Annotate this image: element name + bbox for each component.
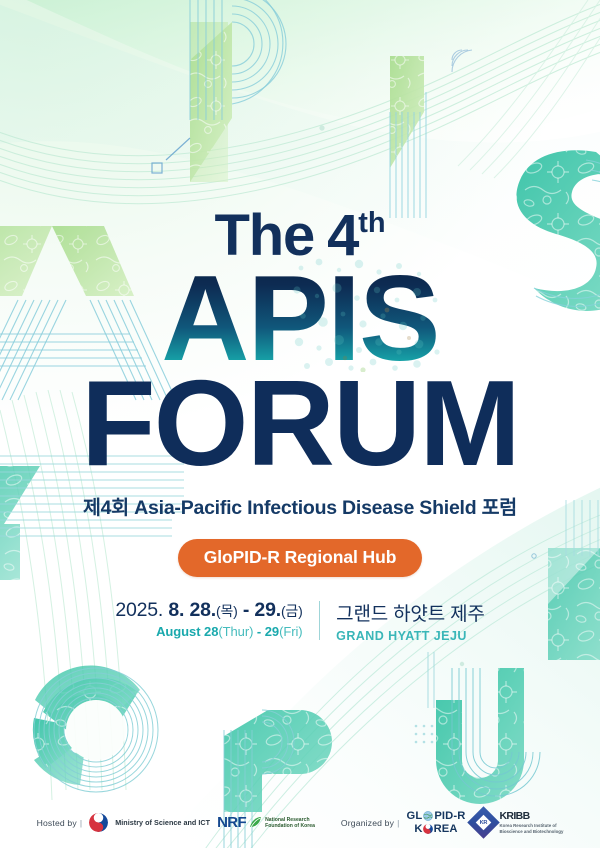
event-date-column: 2025. 8. 28.(목) - 29.(금) August 28(Thur)… bbox=[115, 599, 302, 643]
event-venue-column: 그랜드 하얏트 제주 GRAND HYATT JEJU bbox=[336, 599, 485, 643]
date-weekday-end: (금) bbox=[281, 603, 303, 619]
label-bar: | bbox=[80, 818, 82, 828]
glopid-row-top: GL PID-R bbox=[407, 811, 466, 822]
acronym-wrap: APIS bbox=[161, 265, 438, 374]
nrf-line1: National Research bbox=[265, 817, 315, 823]
date-weekday-start: (목) bbox=[216, 603, 238, 619]
nrf-subtitle: National Research Foundation of Korea bbox=[265, 817, 315, 829]
date-en-dash: - bbox=[253, 624, 264, 639]
date-en-thur: (Thur) bbox=[218, 624, 253, 639]
hosted-by-label: Hosted by| bbox=[37, 818, 83, 828]
diamond-mark: KR bbox=[480, 820, 488, 826]
organized-by-label: Organized by| bbox=[341, 818, 400, 828]
nrf-logo: NRF National Research Foundation of Kore… bbox=[217, 815, 315, 830]
date-month: 8. bbox=[168, 599, 184, 621]
date-en-day2: 29 bbox=[265, 624, 279, 639]
korea-k: K bbox=[414, 824, 422, 835]
glopid-gl: GL bbox=[407, 811, 423, 822]
kribb-line1: Korea Research Institute of bbox=[499, 823, 563, 829]
taegeuk-icon bbox=[89, 813, 108, 832]
diamond-inner: KR bbox=[476, 815, 492, 831]
organized-by-group: Organized by| GL PID-R bbox=[341, 811, 563, 835]
event-info-block: 2025. 8. 28.(목) - 29.(금) August 28(Thur)… bbox=[115, 599, 484, 643]
poster-canvas: The 4 th APIS bbox=[0, 0, 600, 848]
footer-logos: Hosted by| Ministry of Science and ICT N… bbox=[0, 811, 600, 835]
kribb-text: KRIBB Korea Research Institute of Biosci… bbox=[499, 811, 563, 835]
taegeuk-icon-small bbox=[423, 824, 433, 834]
korea-rea: REA bbox=[434, 824, 458, 835]
date-year: 2025. bbox=[115, 599, 163, 621]
kribb-logo: KR KRIBB Korea Research Institute of Bio… bbox=[472, 811, 563, 835]
nrf-leaf-icon bbox=[249, 816, 262, 829]
date-en-main: August 28 bbox=[156, 624, 218, 639]
nrf-line2: Foundation of Korea bbox=[265, 823, 315, 829]
poster-subtitle: 제4회 Asia-Pacific Infectious Disease Shie… bbox=[83, 491, 517, 520]
glopid-pid-r: PID-R bbox=[434, 811, 465, 822]
glopid-row-bottom: K REA bbox=[414, 824, 457, 835]
glopid-r-korea-logo: GL PID-R K bbox=[407, 811, 466, 835]
venue-english: GRAND HYATT JEJU bbox=[336, 629, 467, 643]
date-en-fri: (Fri) bbox=[279, 624, 303, 639]
poster-content: The 4 th APIS bbox=[0, 0, 600, 848]
globe-icon bbox=[423, 811, 433, 821]
kribb-line2: Bioscience and Biotechnology bbox=[499, 829, 563, 835]
regional-hub-badge: GloPID-R Regional Hub bbox=[178, 539, 423, 577]
venue-korean: 그랜드 하얏트 제주 bbox=[336, 599, 485, 626]
date-dash: - bbox=[243, 599, 249, 621]
msit-name: Ministry of Science and ICT bbox=[115, 818, 210, 827]
diamond-logo-icon: KR bbox=[468, 807, 501, 840]
info-divider bbox=[319, 601, 321, 640]
event-date-english: August 28(Thur) - 29(Fri) bbox=[156, 624, 302, 639]
date-day-end: 29. bbox=[254, 599, 281, 621]
edition-ordinal: th bbox=[358, 209, 385, 238]
date-day-start: 28. bbox=[189, 599, 216, 621]
label-bar-2: | bbox=[397, 818, 399, 828]
event-date-korean: 2025. 8. 28.(목) - 29.(금) bbox=[115, 599, 302, 622]
acronym-apis: APIS bbox=[161, 262, 438, 374]
kribb-mark: KRIBB bbox=[499, 811, 563, 822]
nrf-mark: NRF bbox=[217, 815, 246, 830]
hosted-by-group: Hosted by| Ministry of Science and ICT N… bbox=[37, 813, 315, 832]
